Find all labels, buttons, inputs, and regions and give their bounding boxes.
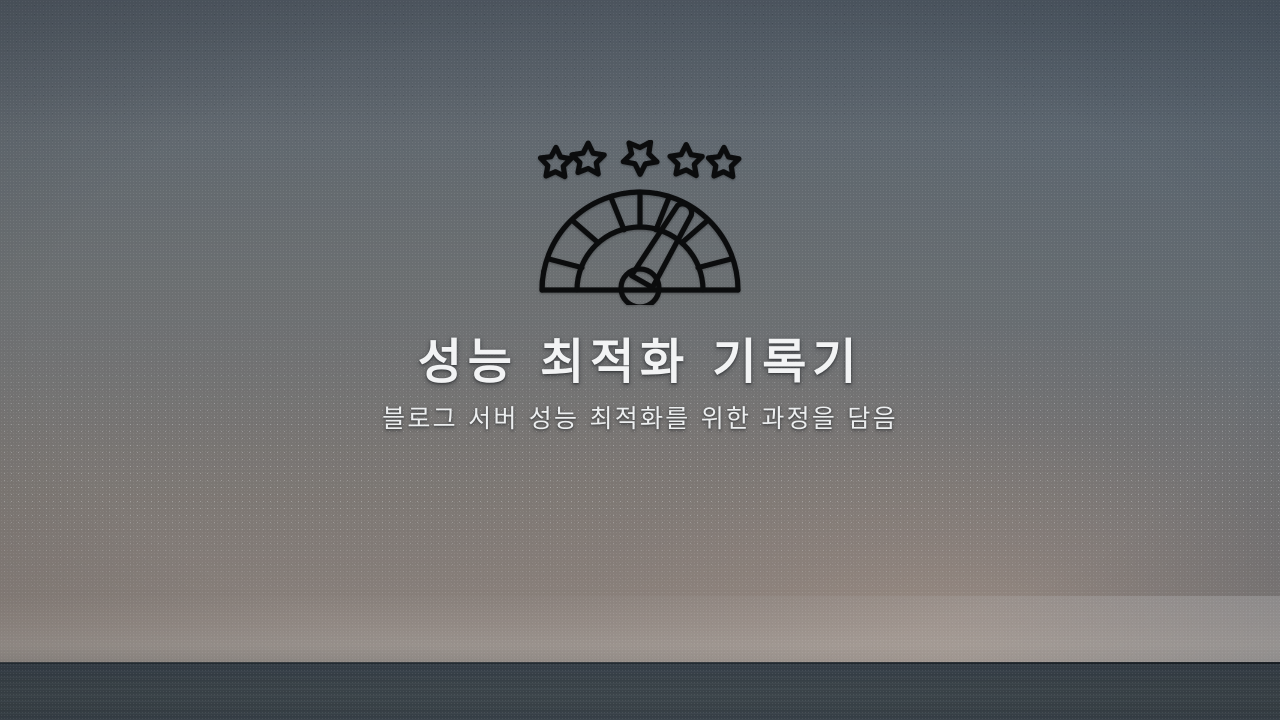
page-subtitle: 블로그 서버 성능 최적화를 위한 과정을 담음 [382,403,898,434]
star-4-icon [670,145,702,176]
gauge-tick-1 [549,259,582,268]
star-2-icon [572,143,604,174]
page-title: 성능 최적화 기록기 [418,337,862,387]
star-1-icon [541,147,571,176]
speedometer-five-stars-icon [525,140,755,305]
gauge-tick-7 [698,259,731,268]
gauge-tick-3 [611,198,624,230]
gauge-tick-2 [573,221,599,243]
star-3-icon [623,142,657,174]
hero-content: 성능 최적화 기록기 블로그 서버 성능 최적화를 위한 과정을 담음 [0,0,1280,720]
star-5-icon [709,147,739,176]
hero-banner: 성능 최적화 기록기 블로그 서버 성능 최적화를 위한 과정을 담음 [0,0,1280,720]
